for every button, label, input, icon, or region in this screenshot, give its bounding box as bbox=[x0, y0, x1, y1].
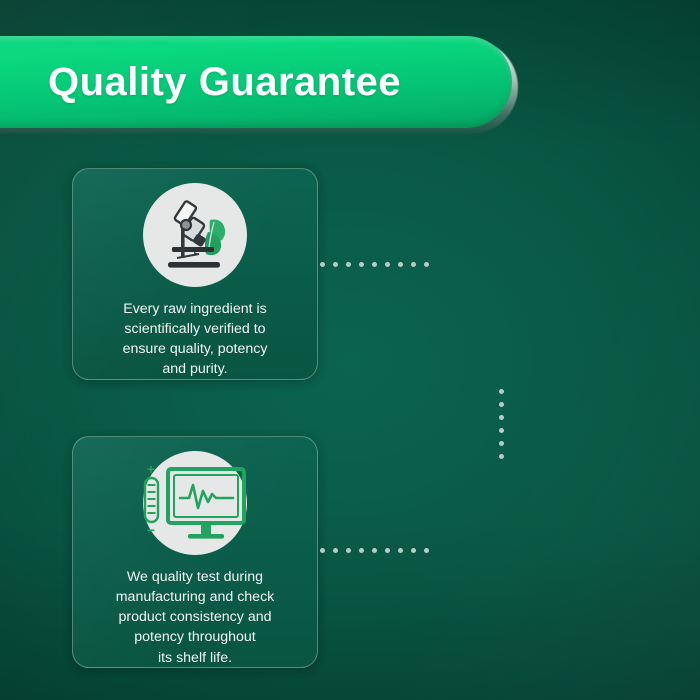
monitor-waveform-thermometer-icon: + − bbox=[143, 451, 247, 555]
connector-card2-card4 bbox=[499, 389, 504, 459]
infographic-canvas: Quality Guarantee bbox=[0, 0, 700, 700]
card-quality-test-text: We quality test during manufacturing and… bbox=[112, 567, 279, 668]
gauge-minus-label: − bbox=[147, 522, 155, 538]
banner-body: Quality Guarantee bbox=[0, 36, 512, 128]
card-grid: Our in-house experts combine natural med… bbox=[72, 168, 628, 668]
card-quality-test[interactable]: + − bbox=[72, 436, 318, 668]
card-raw-ingredient[interactable]: Every raw ingredient is scientifically v… bbox=[72, 168, 318, 380]
microscope-leaf-icon bbox=[143, 183, 247, 287]
connector-card1-card2 bbox=[320, 262, 429, 267]
header-banner: Quality Guarantee bbox=[0, 36, 520, 130]
page-title: Quality Guarantee bbox=[48, 62, 401, 102]
card-raw-ingredient-text: Every raw ingredient is scientifically v… bbox=[119, 299, 272, 380]
gauge-plus-label: + bbox=[147, 461, 155, 477]
connector-card3-card4 bbox=[320, 548, 429, 553]
